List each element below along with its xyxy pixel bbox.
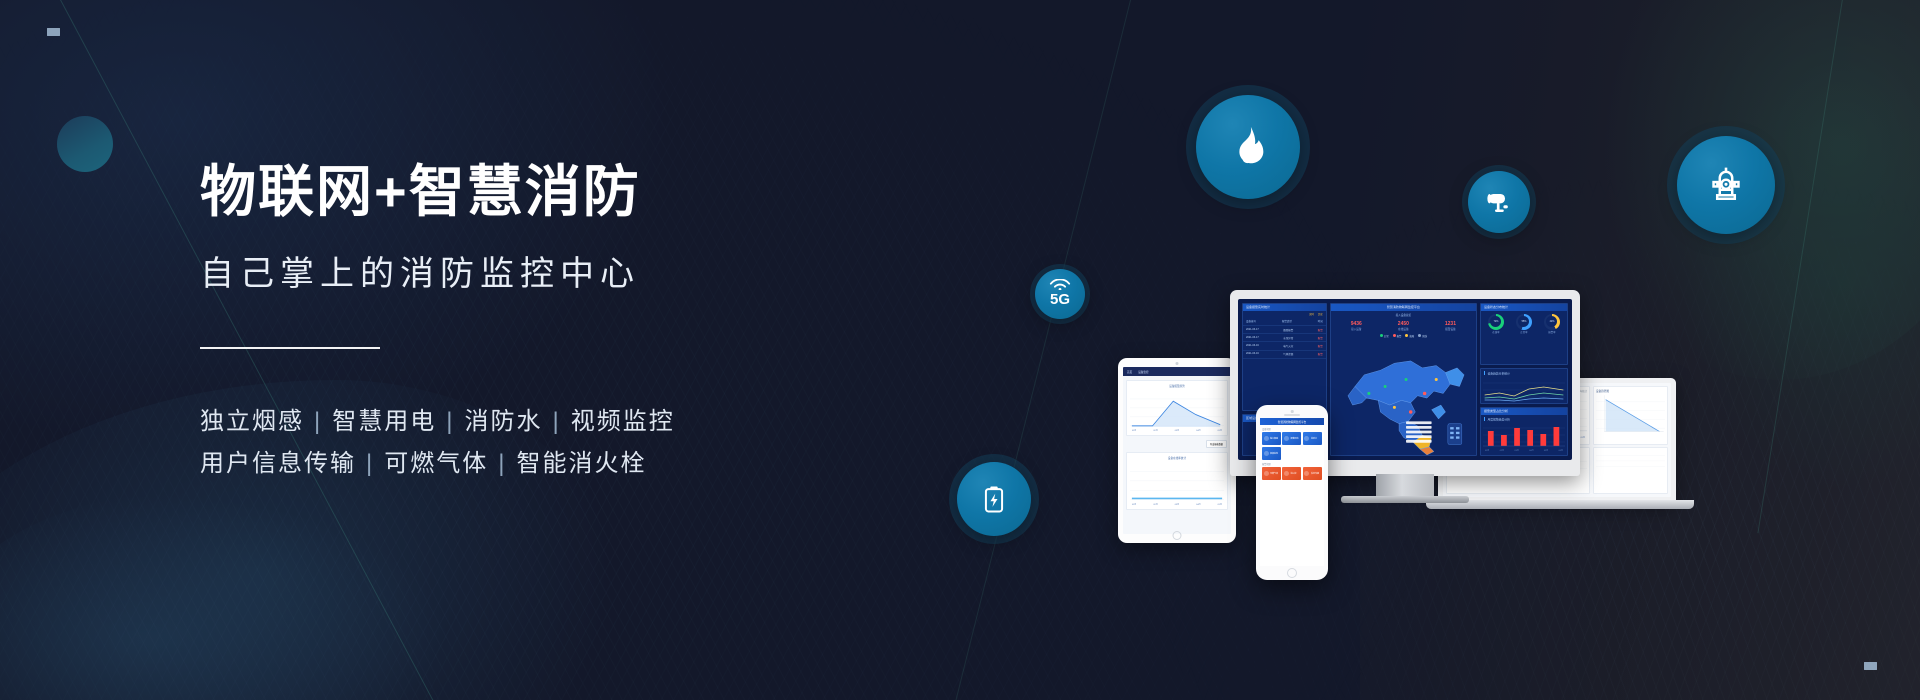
tablet-navbar[interactable]: 首页 设备监控 bbox=[1123, 367, 1231, 376]
kpi-item: 1231报警设备 bbox=[1445, 321, 1456, 331]
alarm-table: 设备编号 报警类型 时间 2021-03-17烟感报警报警 2021-03-17… bbox=[1243, 318, 1326, 359]
gauge-label-1: 正常率 bbox=[1516, 330, 1532, 336]
phone-tile-group-blue: 独立烟感智慧用电消防水视频监控 bbox=[1260, 432, 1324, 460]
feature-separator: | bbox=[488, 450, 516, 477]
flame-icon bbox=[1225, 124, 1271, 170]
monitor-stand-neck bbox=[1376, 474, 1434, 498]
phone-speaker bbox=[1284, 414, 1300, 416]
phone-tile[interactable]: 信息传输 bbox=[1303, 467, 1322, 480]
phone-tile[interactable]: 可燃气体 bbox=[1262, 467, 1281, 480]
gauge-item: 55% 正常率 bbox=[1516, 314, 1532, 336]
gauge-label-2: 报警率 bbox=[1544, 330, 1560, 336]
tablet-device[interactable]: 首页 设备监控 设备报警趋势 01月02月03月04月05月 bbox=[1118, 358, 1236, 543]
phone-home-button[interactable] bbox=[1287, 568, 1297, 578]
laptop-mini-axis bbox=[1596, 450, 1665, 470]
tablet-line-chart-1 bbox=[1130, 390, 1224, 428]
tile-label: 消防水 bbox=[1311, 437, 1317, 440]
tablet-camera-icon bbox=[1176, 362, 1179, 365]
phone-tile[interactable]: 视频监控 bbox=[1262, 447, 1281, 460]
feature-separator: | bbox=[436, 408, 464, 435]
tile-label: 智慧用电 bbox=[1290, 437, 1298, 440]
battery-badge[interactable] bbox=[949, 454, 1039, 544]
tablet-chart-title-1: 设备报警趋势 bbox=[1130, 384, 1224, 388]
map-legend-3: 离线 bbox=[1418, 334, 1427, 338]
gauge-item: 72% 在线率 bbox=[1488, 314, 1504, 336]
feature-separator: | bbox=[356, 450, 384, 477]
gauge-value-2: 42% bbox=[1546, 316, 1557, 327]
page-subtitle: 自己掌上的消防监控中心 bbox=[200, 246, 960, 295]
feature-item: 视频监控 bbox=[571, 408, 675, 435]
decorative-dash bbox=[47, 28, 60, 36]
phone-device[interactable]: 智慧消防物联网监控平台 设备管理 独立烟感智慧用电消防水视频监控 报警管理 可燃… bbox=[1256, 405, 1328, 580]
camera-badge[interactable] bbox=[1462, 165, 1536, 239]
tile-icon bbox=[1304, 471, 1309, 476]
laptop-area-chart bbox=[1596, 393, 1665, 437]
battery-bolt-icon bbox=[977, 482, 1011, 516]
feature-item: 可燃气体 bbox=[384, 450, 488, 477]
bar-panel-header: 报警类型占比分析 bbox=[1481, 408, 1567, 415]
dashboard-center-column: 智慧消防物联网监控平台 接入设备总览 9436接入设备 2450在线设备 bbox=[1330, 303, 1477, 456]
background-blob-bottom-left-2 bbox=[0, 490, 460, 700]
device-mockup-group: 首页 设备监控 设备报警趋势 01月02月03月04月05月 bbox=[1118, 290, 1858, 590]
tablet-chart-card-2: 设备在线率统计 01月02月03月04月05月 bbox=[1126, 452, 1228, 510]
tile-label: 视频监控 bbox=[1270, 452, 1278, 455]
tablet-chart-card-1: 设备报警趋势 01月02月03月04月05月 bbox=[1126, 380, 1228, 436]
cctv-camera-icon bbox=[1483, 186, 1515, 218]
map-legend-2: 故障 bbox=[1405, 334, 1414, 338]
kpi-item: 9436接入设备 bbox=[1351, 321, 1362, 331]
feature-item: 消防水 bbox=[464, 408, 542, 435]
table-row[interactable]: 2021-03-16电气火灾报警 bbox=[1243, 342, 1326, 350]
diagonal-line-2 bbox=[942, 0, 1141, 700]
dashboard-title: 智慧消防物联网监控平台 bbox=[1331, 304, 1476, 311]
gauge-panel: 设备状态分布统计 72% 在线率 55% 正常率 bbox=[1480, 303, 1568, 365]
feature-separator: | bbox=[542, 408, 570, 435]
tablet-axis-1: 01月02月03月04月05月 bbox=[1130, 429, 1224, 432]
alarm-tab-0[interactable]: 实时 bbox=[1309, 312, 1314, 316]
tile-icon bbox=[1264, 451, 1269, 456]
gauge-panel-header: 设备状态分布统计 bbox=[1481, 304, 1567, 311]
feature-row-2: 用户信息传输|可燃气体|智能消火栓 bbox=[200, 443, 960, 484]
feature-separator: | bbox=[304, 408, 332, 435]
page-title: 物联网+智慧消防 bbox=[200, 160, 960, 224]
gauge-value-1: 55% bbox=[1518, 316, 1529, 327]
bar-axis: 01月02月 03月04月 05月06月 bbox=[1483, 449, 1565, 452]
flame-badge[interactable] bbox=[1186, 85, 1310, 209]
feature-item: 独立烟感 bbox=[200, 408, 304, 435]
map-legend-0: 正常 bbox=[1380, 334, 1389, 338]
map-legend: 正常 报警 故障 离线 bbox=[1331, 333, 1476, 340]
title-divider bbox=[200, 347, 380, 349]
trend-panel: 设备趋势分析统计 bbox=[1480, 368, 1568, 404]
table-row[interactable]: 2021-03-16气体泄漏报警 bbox=[1243, 351, 1326, 359]
distribution-area-chart bbox=[1483, 454, 1565, 456]
trend-panel-title: 设备趋势分析统计 bbox=[1481, 369, 1567, 377]
table-row[interactable]: 2021-03-17水压异常报警 bbox=[1243, 334, 1326, 342]
gauge-row: 72% 在线率 55% 正常率 42% 报警率 bbox=[1481, 311, 1567, 339]
5g-icon: 5G bbox=[1049, 279, 1071, 309]
tile-icon bbox=[1264, 471, 1269, 476]
hero-banner: 物联网+智慧消防 自己掌上的消防监控中心 独立烟感|智慧用电|消防水|视频监控 … bbox=[0, 0, 1920, 700]
alarm-bar-chart bbox=[1483, 422, 1565, 448]
tablet-home-button[interactable] bbox=[1173, 531, 1182, 540]
trend-line-chart bbox=[1483, 377, 1565, 403]
feature-row-1: 独立烟感|智慧用电|消防水|视频监控 bbox=[200, 401, 960, 442]
feature-item: 智能消火栓 bbox=[516, 450, 646, 477]
dashboard-right-column: 设备状态分布统计 72% 在线率 55% 正常率 bbox=[1480, 303, 1568, 456]
kpi-row: 9436接入设备 2450在线设备 1231报警设备 bbox=[1331, 317, 1476, 333]
tile-icon bbox=[1284, 436, 1289, 441]
5g-badge[interactable]: 5G bbox=[1030, 264, 1090, 324]
decorative-dash bbox=[1864, 662, 1877, 670]
hero-copy: 物联网+智慧消防 自己掌上的消防监控中心 独立烟感|智慧用电|消防水|视频监控 … bbox=[200, 160, 960, 484]
tablet-axis-2: 01月02月03月04月05月 bbox=[1130, 503, 1224, 506]
phone-screen[interactable]: 智慧消防物联网监控平台 设备管理 独立烟感智慧用电消防水视频监控 报警管理 可燃… bbox=[1260, 418, 1324, 566]
phone-titlebar: 智慧消防物联网监控平台 bbox=[1260, 418, 1324, 425]
trend-chart-wrap: 01月02月 03月04月 05月06月 bbox=[1481, 377, 1567, 404]
feature-item: 智慧用电 bbox=[332, 408, 436, 435]
phone-camera-icon bbox=[1291, 410, 1294, 413]
bar-panel-title: 月度报警趋势分析 bbox=[1481, 415, 1567, 423]
tablet-export-row: 导出报表数据 bbox=[1123, 440, 1231, 448]
china-map[interactable] bbox=[1331, 340, 1476, 456]
phone-section-0: 设备管理 bbox=[1260, 425, 1324, 432]
feature-item: 用户信息传输 bbox=[200, 450, 356, 477]
bar-panel: 报警类型占比分析 月度报警趋势分析 bbox=[1480, 407, 1568, 456]
alarm-table-header: 设备编号 报警类型 时间 bbox=[1243, 318, 1326, 326]
laptop-axis-card bbox=[1593, 447, 1668, 494]
tablet-line-chart-2 bbox=[1130, 462, 1224, 502]
alarm-tab-1[interactable]: 历史 bbox=[1318, 312, 1323, 316]
phone-tile-group-orange: 可燃气体消火栓信息传输 bbox=[1260, 467, 1324, 480]
phone-tile[interactable]: 智慧用电 bbox=[1282, 432, 1301, 445]
alarm-panel-header: 设备报警实时统计 bbox=[1243, 304, 1326, 311]
tablet-tab-1[interactable]: 设备监控 bbox=[1138, 370, 1148, 374]
map-legend-1: 报警 bbox=[1393, 334, 1402, 338]
tile-label: 独立烟感 bbox=[1270, 437, 1278, 440]
tablet-tab-0[interactable]: 首页 bbox=[1127, 370, 1132, 374]
tile-icon bbox=[1264, 436, 1269, 441]
fire-hydrant-icon bbox=[1704, 163, 1748, 207]
china-map-icon bbox=[1334, 340, 1473, 456]
alarm-panel: 设备报警实时统计 实时 历史 设备编号 报警类型 时间 bbox=[1242, 303, 1327, 411]
decorative-teal-circle bbox=[57, 116, 113, 172]
phone-tile[interactable]: 消防水 bbox=[1303, 432, 1322, 445]
gauge-item: 42% 报警率 bbox=[1544, 314, 1560, 336]
phone-tile[interactable]: 消火栓 bbox=[1282, 467, 1301, 480]
monitor-stand-foot bbox=[1341, 496, 1469, 503]
tile-icon bbox=[1284, 471, 1289, 476]
tablet-screen[interactable]: 首页 设备监控 设备报警趋势 01月02月03月04月05月 bbox=[1123, 367, 1231, 534]
area-chart-wrap: 01月03月 05月06月 bbox=[1481, 454, 1567, 456]
bar-chart-wrap: 01月02月 03月04月 05月06月 bbox=[1481, 422, 1567, 454]
phone-section-1: 报警管理 bbox=[1260, 460, 1324, 467]
phone-tile[interactable]: 独立烟感 bbox=[1262, 432, 1281, 445]
tile-label: 信息传输 bbox=[1311, 472, 1319, 475]
alarm-tabs[interactable]: 实时 历史 bbox=[1243, 311, 1326, 318]
map-panel: 智慧消防物联网监控平台 接入设备总览 9436接入设备 2450在线设备 bbox=[1330, 303, 1477, 456]
table-row[interactable]: 2021-03-17烟感报警报警 bbox=[1243, 326, 1326, 334]
5g-label: 5G bbox=[1050, 291, 1070, 308]
gauge-value-0: 72% bbox=[1490, 316, 1501, 327]
tile-icon bbox=[1304, 436, 1309, 441]
tablet-export-button[interactable]: 导出报表数据 bbox=[1206, 440, 1227, 448]
tile-label: 可燃气体 bbox=[1270, 472, 1278, 475]
gauge-label-0: 在线率 bbox=[1488, 330, 1504, 336]
tablet-chart-title-2: 设备在线率统计 bbox=[1130, 456, 1224, 460]
hydrant-badge[interactable] bbox=[1667, 126, 1785, 244]
laptop-area-chart-card: 设备趋势图 bbox=[1593, 386, 1668, 445]
feature-list: 独立烟感|智慧用电|消防水|视频监控 用户信息传输|可燃气体|智能消火栓 bbox=[200, 401, 960, 484]
tile-label: 消火栓 bbox=[1290, 472, 1296, 475]
kpi-item: 2450在线设备 bbox=[1398, 321, 1409, 331]
